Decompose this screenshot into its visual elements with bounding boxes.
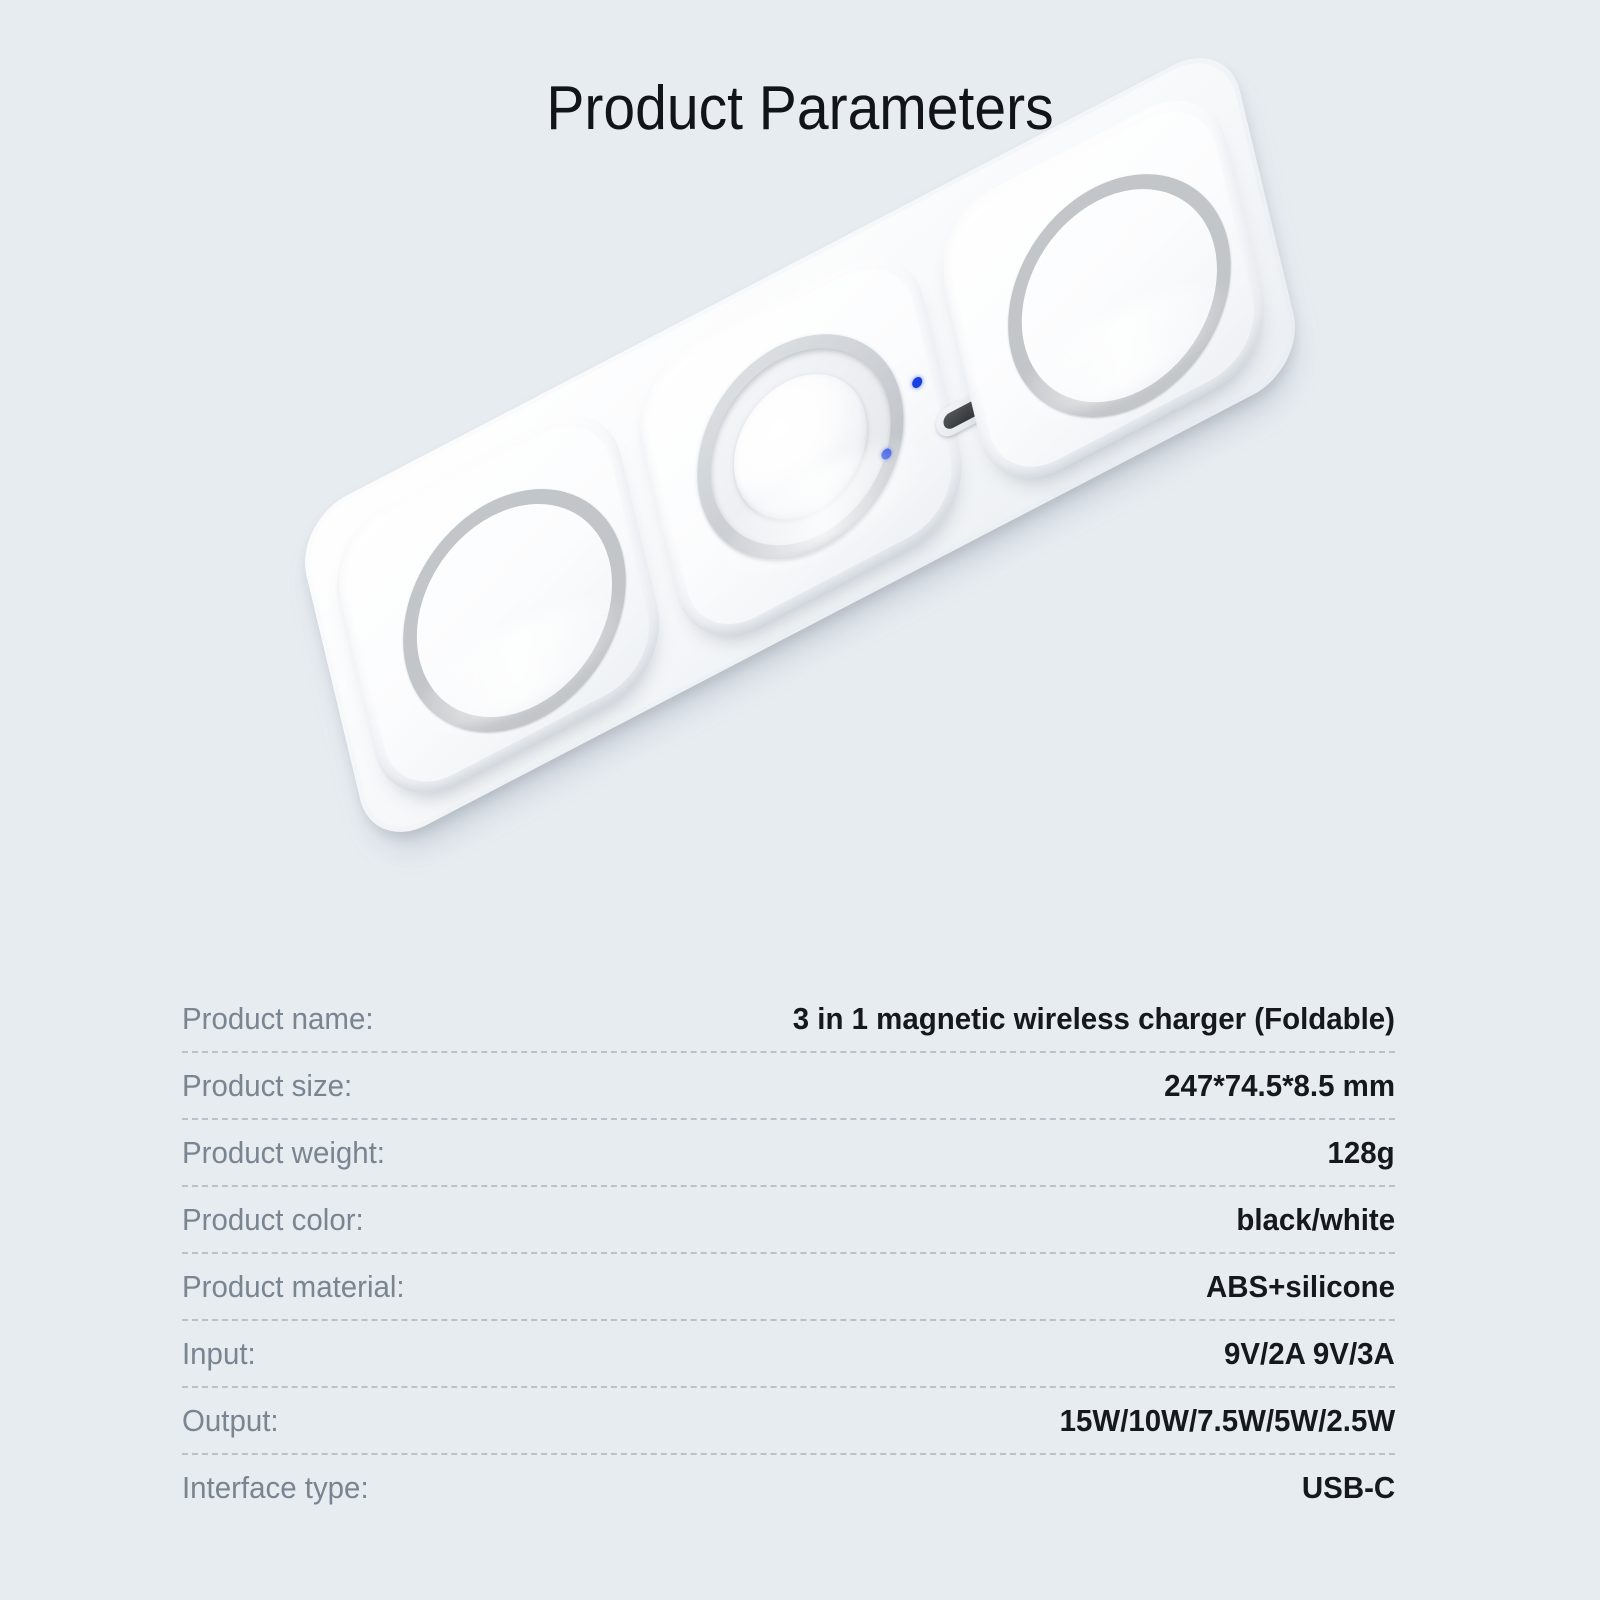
product-image <box>0 160 1600 980</box>
middle-watch-pad <box>626 233 975 660</box>
spec-value: black/white <box>1236 1202 1395 1238</box>
spec-label: Product material: <box>182 1269 405 1305</box>
spec-label: Input: <box>182 1336 256 1372</box>
spec-value: 247*74.5*8.5 mm <box>1164 1068 1395 1104</box>
page-title: Product Parameters <box>64 78 1536 140</box>
table-row: Product color: black/white <box>182 1187 1395 1254</box>
spec-label: Product color: <box>182 1202 364 1238</box>
spec-label: Product weight: <box>182 1135 385 1171</box>
charger-device <box>322 69 1279 822</box>
table-row: Product weight: 128g <box>182 1120 1395 1187</box>
table-row: Output: 15W/10W/7.5W/5W/2.5W <box>182 1388 1395 1455</box>
spec-label: Output: <box>182 1403 279 1439</box>
spec-value: 128g <box>1328 1135 1395 1171</box>
table-row: Product size: 247*74.5*8.5 mm <box>182 1053 1395 1120</box>
table-row: Product material: ABS+silicone <box>182 1254 1395 1321</box>
watch-charger-ring-icon <box>676 295 924 599</box>
left-magsafe-pad <box>323 391 672 818</box>
watch-charger-puck <box>720 349 880 545</box>
spec-label: Interface type: <box>182 1470 369 1506</box>
spec-value: USB-C <box>1302 1470 1395 1506</box>
led-indicator-icon <box>911 375 923 390</box>
spec-label: Product size: <box>182 1068 352 1104</box>
spec-label: Product name: <box>182 1001 374 1037</box>
spec-value: 3 in 1 magnetic wireless charger (Foldab… <box>793 1001 1395 1037</box>
watch-charger-groove <box>692 314 910 580</box>
led-indicator-icon <box>880 447 892 462</box>
spec-value: ABS+silicone <box>1206 1269 1395 1305</box>
table-row: Input: 9V/2A 9V/3A <box>182 1321 1395 1388</box>
spec-table: Product name: 3 in 1 magnetic wireless c… <box>182 986 1395 1520</box>
spec-value: 9V/2A 9V/3A <box>1224 1336 1395 1372</box>
table-row: Product name: 3 in 1 magnetic wireless c… <box>182 986 1395 1053</box>
table-row: Interface type: USB-C <box>182 1455 1395 1520</box>
spec-value: 15W/10W/7.5W/5W/2.5W <box>1060 1403 1395 1439</box>
